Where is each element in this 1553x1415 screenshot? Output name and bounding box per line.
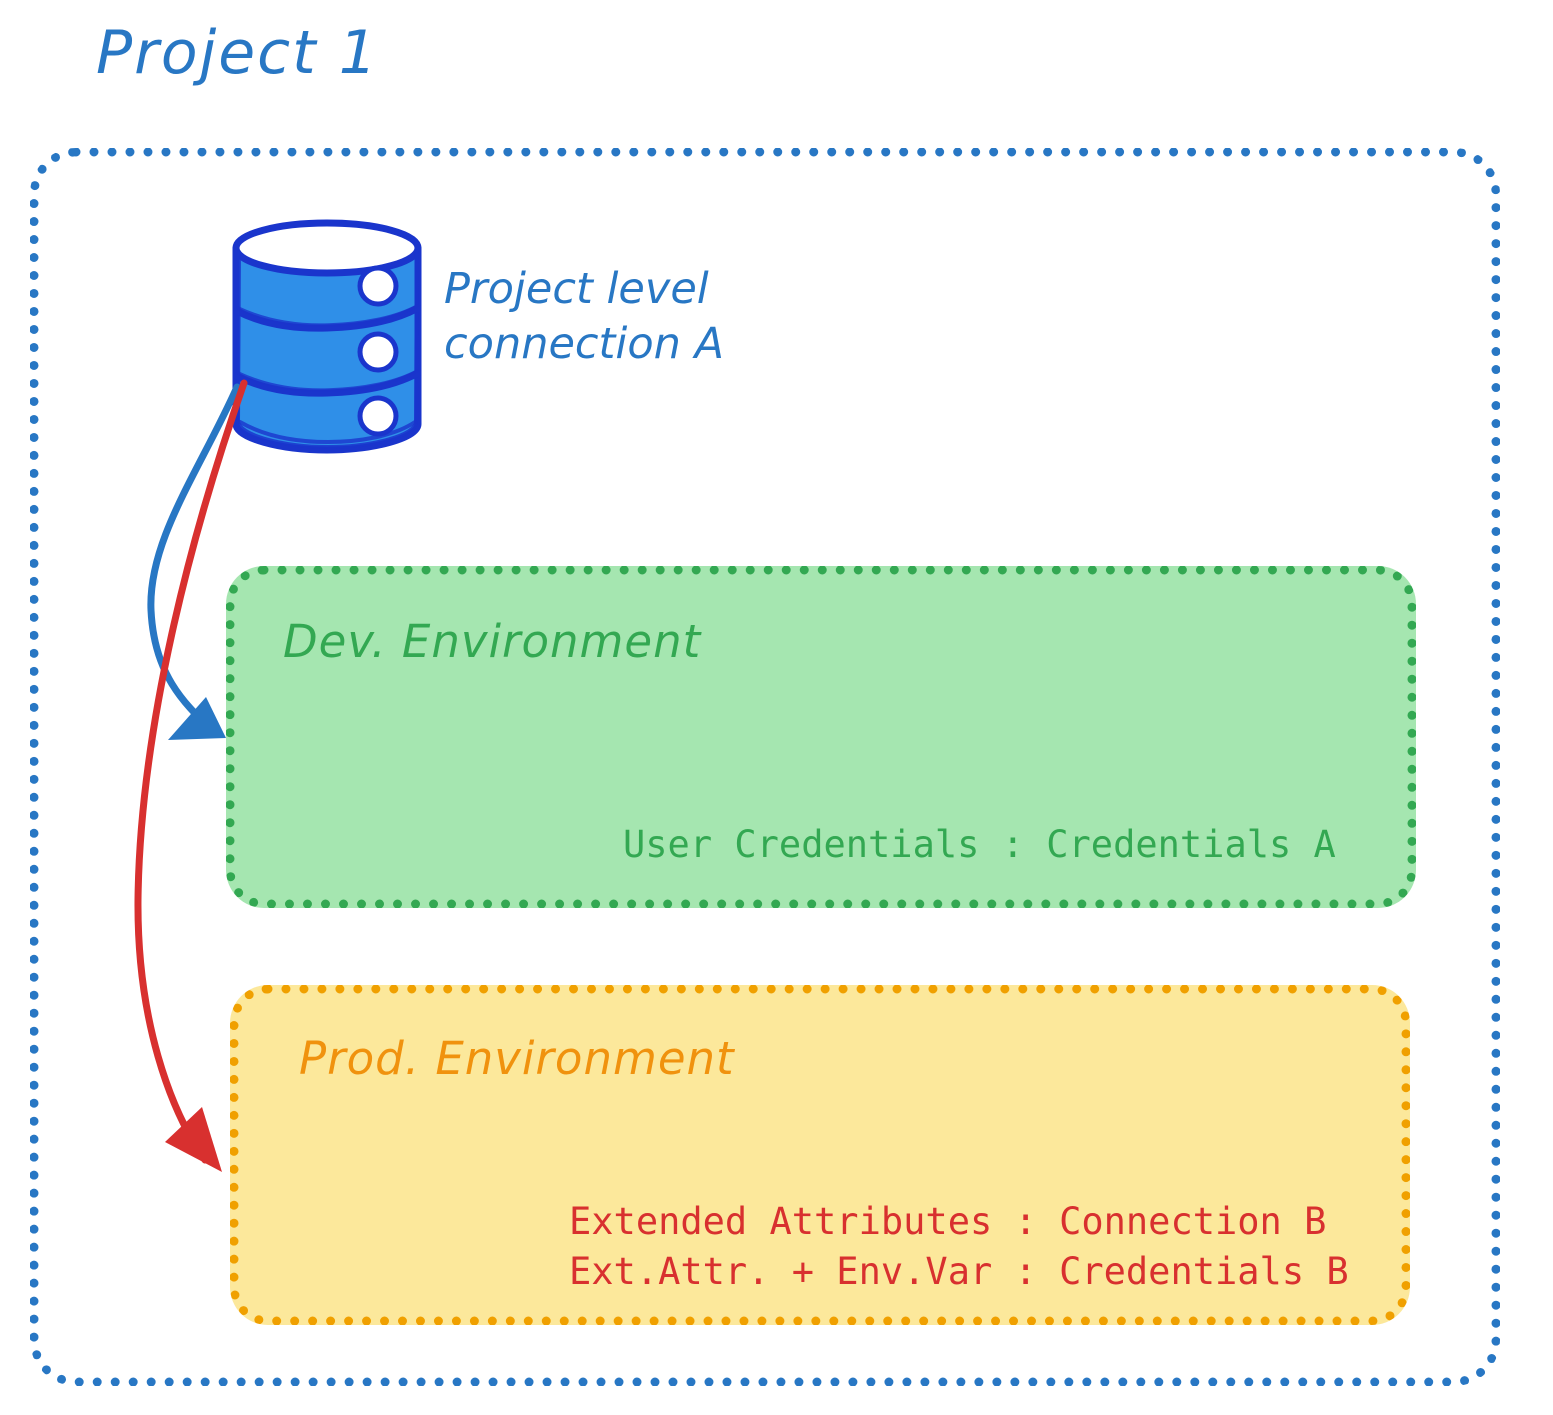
database-label-line-2: connection A (444, 317, 864, 372)
database-cylinder-icon (228, 216, 426, 456)
dev-environment-box[interactable]: Dev. Environment User Credentials : Cred… (226, 566, 1416, 908)
dev-environment-heading: Dev. Environment (283, 615, 701, 668)
diagram-canvas: Project 1 Project level connecti (0, 0, 1553, 1415)
prod-environment-box[interactable]: Prod. Environment Extended Attributes : … (230, 985, 1410, 1325)
prod-environment-details: Extended Attributes : Connection B Ext.A… (569, 1197, 1349, 1298)
prod-environment-heading: Prod. Environment (299, 1032, 735, 1085)
page-title: Project 1 (96, 18, 379, 88)
dev-environment-details: User Credentials : Credentials A (623, 820, 1336, 870)
database-label: Project level connection A (444, 262, 864, 372)
database-label-line-1: Project level (444, 262, 864, 317)
